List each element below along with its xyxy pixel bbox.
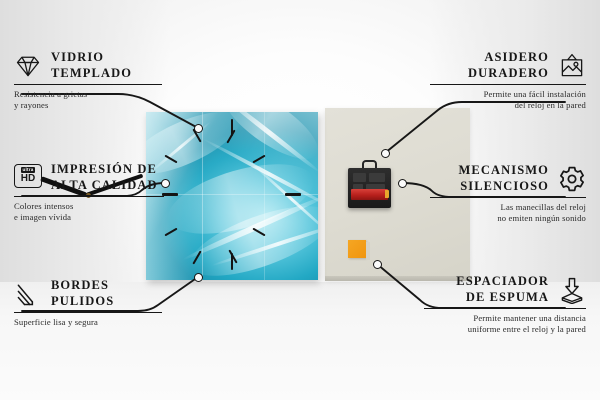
feature-subtitle-line2: e imagen vívida (14, 212, 164, 223)
connector-dot-asidero[interactable] (381, 149, 390, 158)
diamond-icon (14, 52, 42, 80)
foam-spacer-icon (558, 276, 586, 304)
connector-dot-mecanismo[interactable] (398, 179, 407, 188)
infographic-canvas: VIDRIO TEMPLADO Resistencia a grietas y … (0, 0, 600, 400)
feature-subtitle-line2: del reloj en la pared (430, 100, 586, 111)
feature-vidrio-templado: VIDRIO TEMPLADO Resistencia a grietas y … (14, 50, 162, 111)
feature-title-line1: IMPRESIÓN DE (51, 162, 158, 178)
gear-icon (558, 165, 586, 193)
feature-title-line2: SILENCIOSO (460, 179, 549, 195)
feature-divider (430, 84, 586, 85)
feature-title-line1: MECANISMO (459, 163, 549, 179)
feature-title-line2: DE ESPUMA (466, 290, 549, 306)
feature-title-line2: DURADERO (468, 66, 549, 82)
hd-badge-large-text: HD (21, 174, 35, 184)
feature-subtitle-line2: no emiten ningún sonido (430, 213, 586, 224)
feature-subtitle-line1: Resistencia a grietas (14, 89, 162, 100)
feature-title-line1: ASIDERO (484, 50, 549, 66)
feature-subtitle-line2: y rayones (14, 100, 162, 111)
picture-hanger-icon (558, 52, 586, 80)
feature-bordes-pulidos: BORDES PULIDOS Superficie lisa y segura (14, 278, 162, 328)
connector-dot-bordes[interactable] (194, 273, 203, 282)
ultra-hd-icon: ultra HD (14, 164, 42, 192)
feature-subtitle-line1: Las manecillas del reloj (430, 202, 586, 213)
feature-subtitle-line1: Permite una fácil instalación (430, 89, 586, 100)
feature-subtitle-line1: Colores intensos (14, 201, 164, 212)
feature-espaciador-espuma: ESPACIADOR DE ESPUMA Permite mantener un… (424, 274, 586, 335)
feature-title-line2: PULIDOS (51, 294, 114, 310)
feature-divider (424, 308, 586, 309)
feature-title-line1: ESPACIADOR (456, 274, 549, 290)
feature-impresion-alta-calidad: ultra HD IMPRESIÓN DE ALTA CALIDAD Color… (14, 162, 164, 223)
feature-asidero-duradero: ASIDERO DURADERO Permite una fácil insta… (430, 50, 586, 111)
feature-mecanismo-silencioso: MECANISMO SILENCIOSO Las manecillas del … (430, 163, 586, 224)
feature-subtitle-line1: Permite mantener una distancia (424, 313, 586, 324)
feature-subtitle-line1: Superficie lisa y segura (14, 317, 162, 328)
feature-title-line1: BORDES (51, 278, 114, 294)
feature-title-line1: VIDRIO (51, 50, 132, 66)
feature-title-line2: TEMPLADO (51, 66, 132, 82)
polished-edges-icon (14, 280, 42, 308)
feature-divider (14, 312, 162, 313)
feature-subtitle-line2: uniforme entre el reloj y la pared (424, 324, 586, 335)
feature-title-line2: ALTA CALIDAD (51, 178, 158, 194)
connector-dot-espaciador[interactable] (373, 260, 382, 269)
feature-divider (14, 196, 164, 197)
feature-divider (430, 197, 586, 198)
connector-dot-vidrio-templado[interactable] (194, 124, 203, 133)
feature-divider (14, 84, 162, 85)
